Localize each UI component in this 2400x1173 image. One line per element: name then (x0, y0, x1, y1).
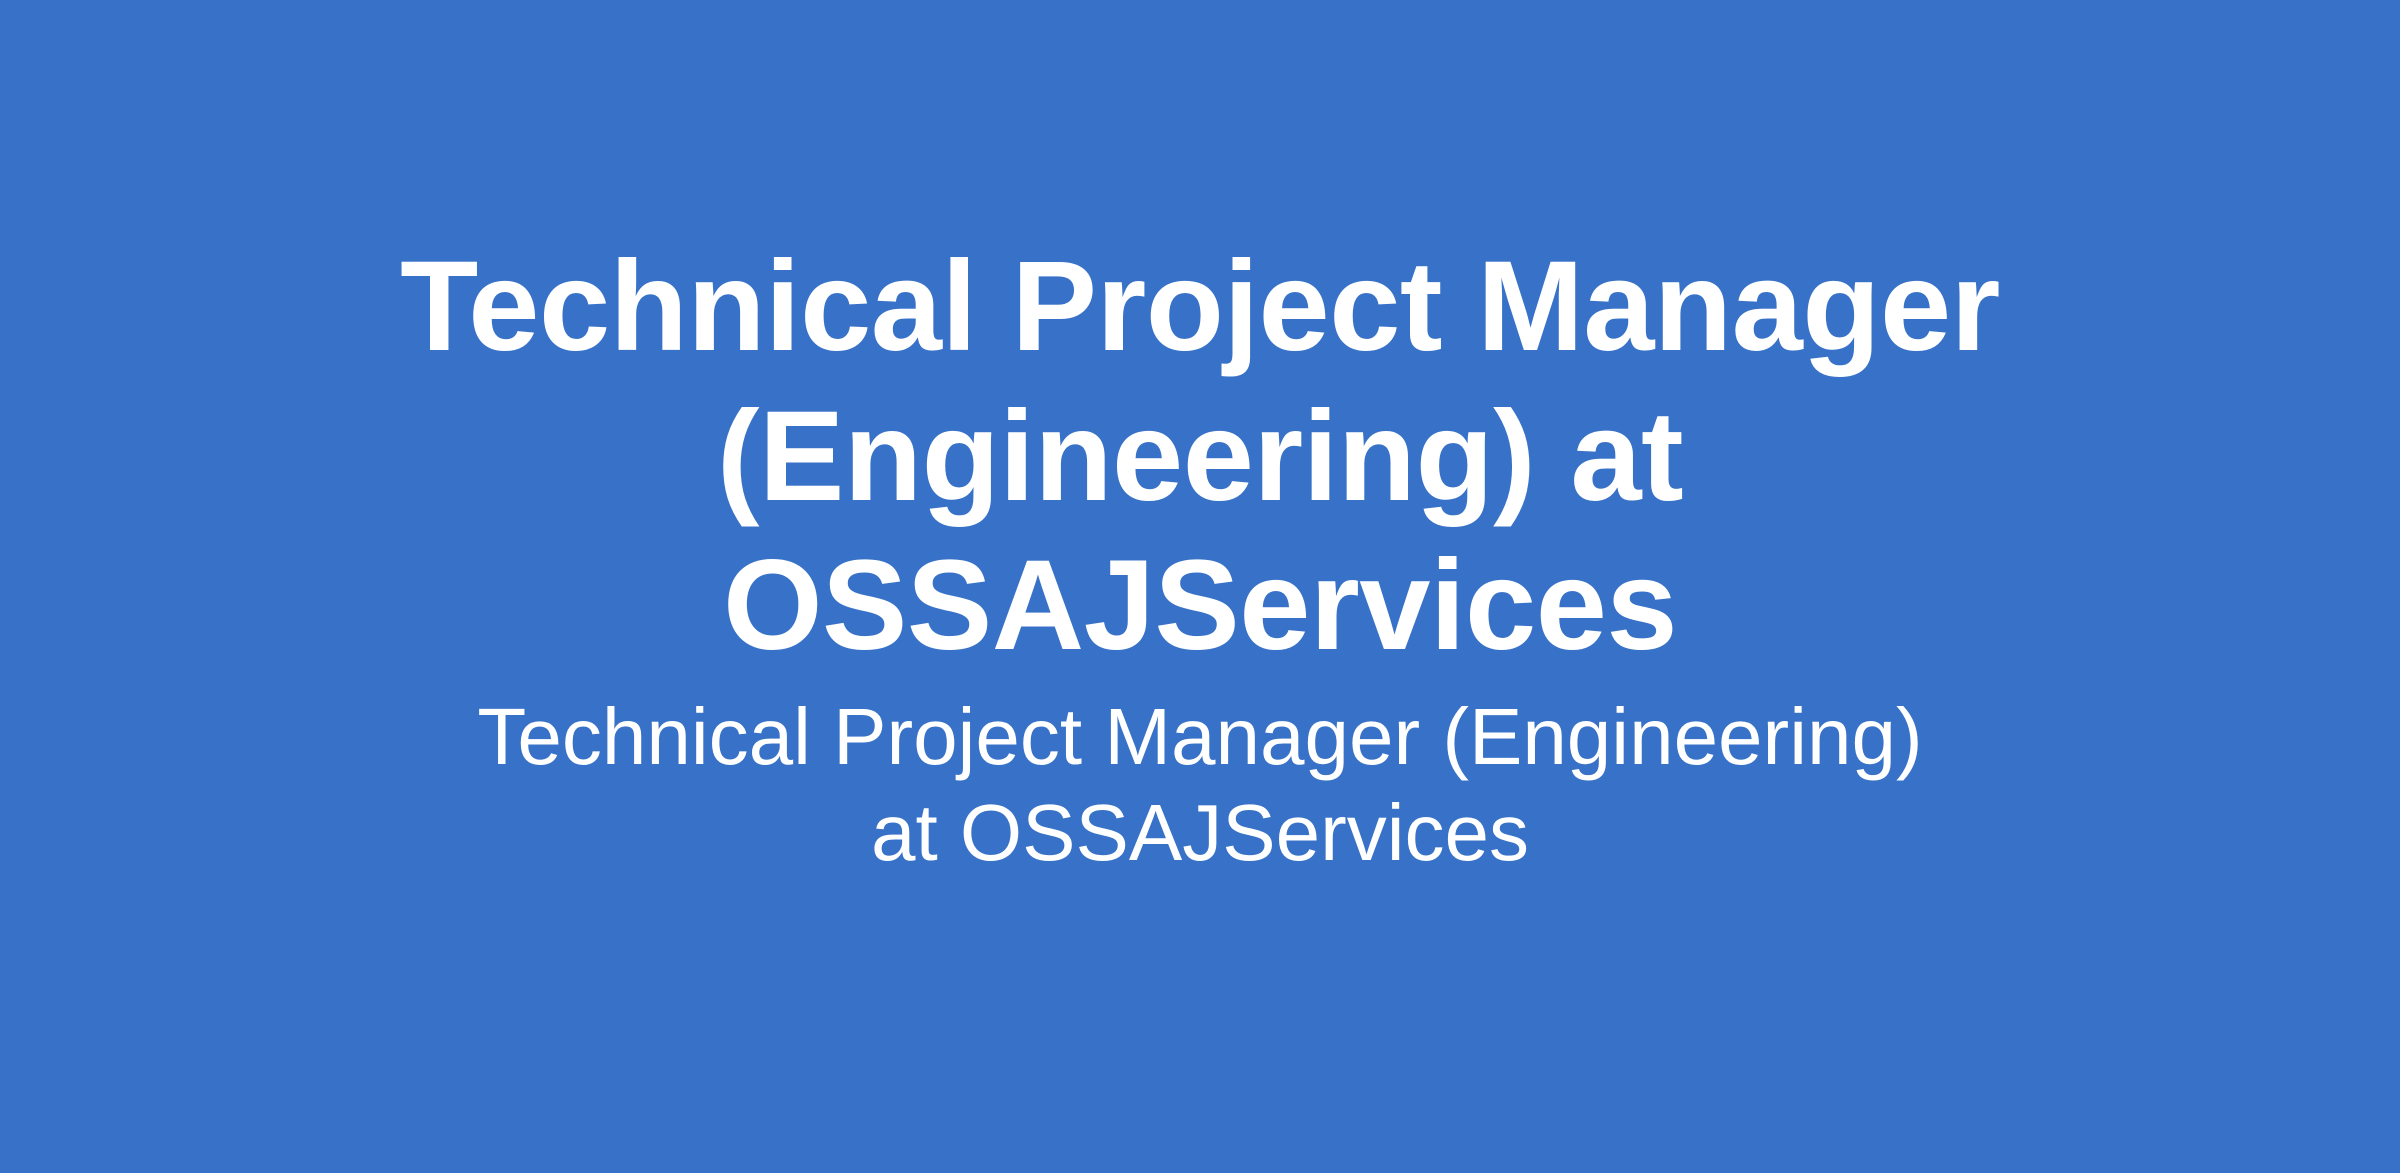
card-content: Technical Project Manager (Engineering) … (0, 232, 2400, 881)
page-title: Technical Project Manager (Engineering) … (360, 232, 2040, 681)
share-card: Technical Project Manager (Engineering) … (0, 0, 2400, 1173)
page-subtitle: Technical Project Manager (Engineering) … (440, 689, 1960, 881)
